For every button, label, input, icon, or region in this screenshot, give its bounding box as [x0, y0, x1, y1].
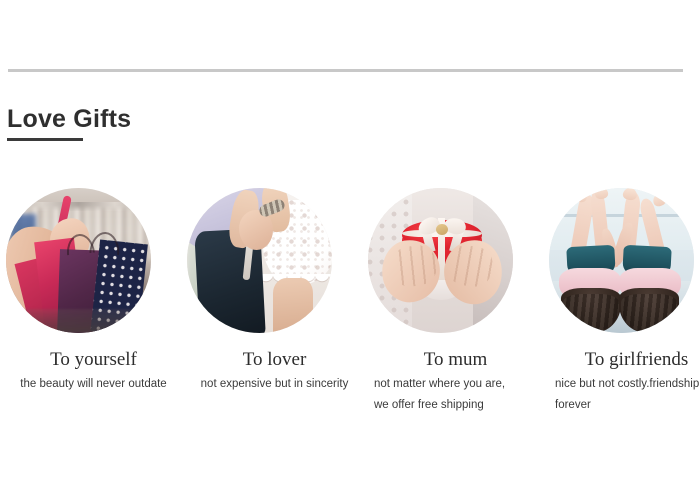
gift-card-thumbnail[interactable] — [187, 188, 332, 333]
gift-card-subtitle-line: we offer free shipping — [374, 395, 546, 416]
hands-holding-red-gift-box-image — [368, 188, 513, 333]
gift-card-subtitle: not matter where you are, we offer free … — [374, 374, 546, 416]
gift-card-subtitle: the beauty will never outdate — [3, 374, 184, 395]
gift-card-to-mum[interactable]: To mum not matter where you are, we offe… — [365, 186, 546, 426]
gift-card-thumbnail[interactable] — [368, 188, 513, 333]
two-girls-lying-upside-down-image — [549, 188, 694, 333]
gift-card-to-yourself[interactable]: To yourself the beauty will never outdat… — [3, 186, 184, 426]
gift-card-to-girlfriends[interactable]: To girlfriends nice but not costly.frien… — [546, 186, 700, 426]
gift-card-thumbnail[interactable] — [6, 188, 151, 333]
gift-card-title: To lover — [184, 348, 365, 372]
gift-card-subtitle-line: nice but not costly.friendship — [555, 374, 700, 395]
gift-card-thumbnail[interactable] — [549, 188, 694, 333]
gift-card-subtitle-line: not matter where you are, — [374, 374, 546, 395]
gift-card-subtitle-line: not expensive but in sincerity — [184, 374, 365, 395]
gift-card-title: To girlfriends — [546, 348, 700, 372]
gift-cards-row: To yourself the beauty will never outdat… — [0, 186, 700, 426]
page-title: Love Gifts — [7, 103, 131, 135]
couple-holding-hands-image — [187, 188, 332, 333]
gift-card-subtitle-line: forever — [555, 395, 700, 416]
title-underline — [7, 138, 83, 141]
woman-holding-shopping-bags-image — [6, 188, 151, 333]
gift-card-subtitle: nice but not costly.friendship forever — [555, 374, 700, 416]
gift-card-subtitle-line: the beauty will never outdate — [3, 374, 184, 395]
top-divider — [8, 69, 683, 72]
gift-card-to-lover[interactable]: To lover not expensive but in sincerity — [184, 186, 365, 426]
love-gifts-section: Love Gifts — [0, 0, 700, 503]
gift-card-title: To mum — [365, 348, 546, 372]
gift-card-subtitle: not expensive but in sincerity — [184, 374, 365, 395]
gift-card-title: To yourself — [3, 348, 184, 372]
